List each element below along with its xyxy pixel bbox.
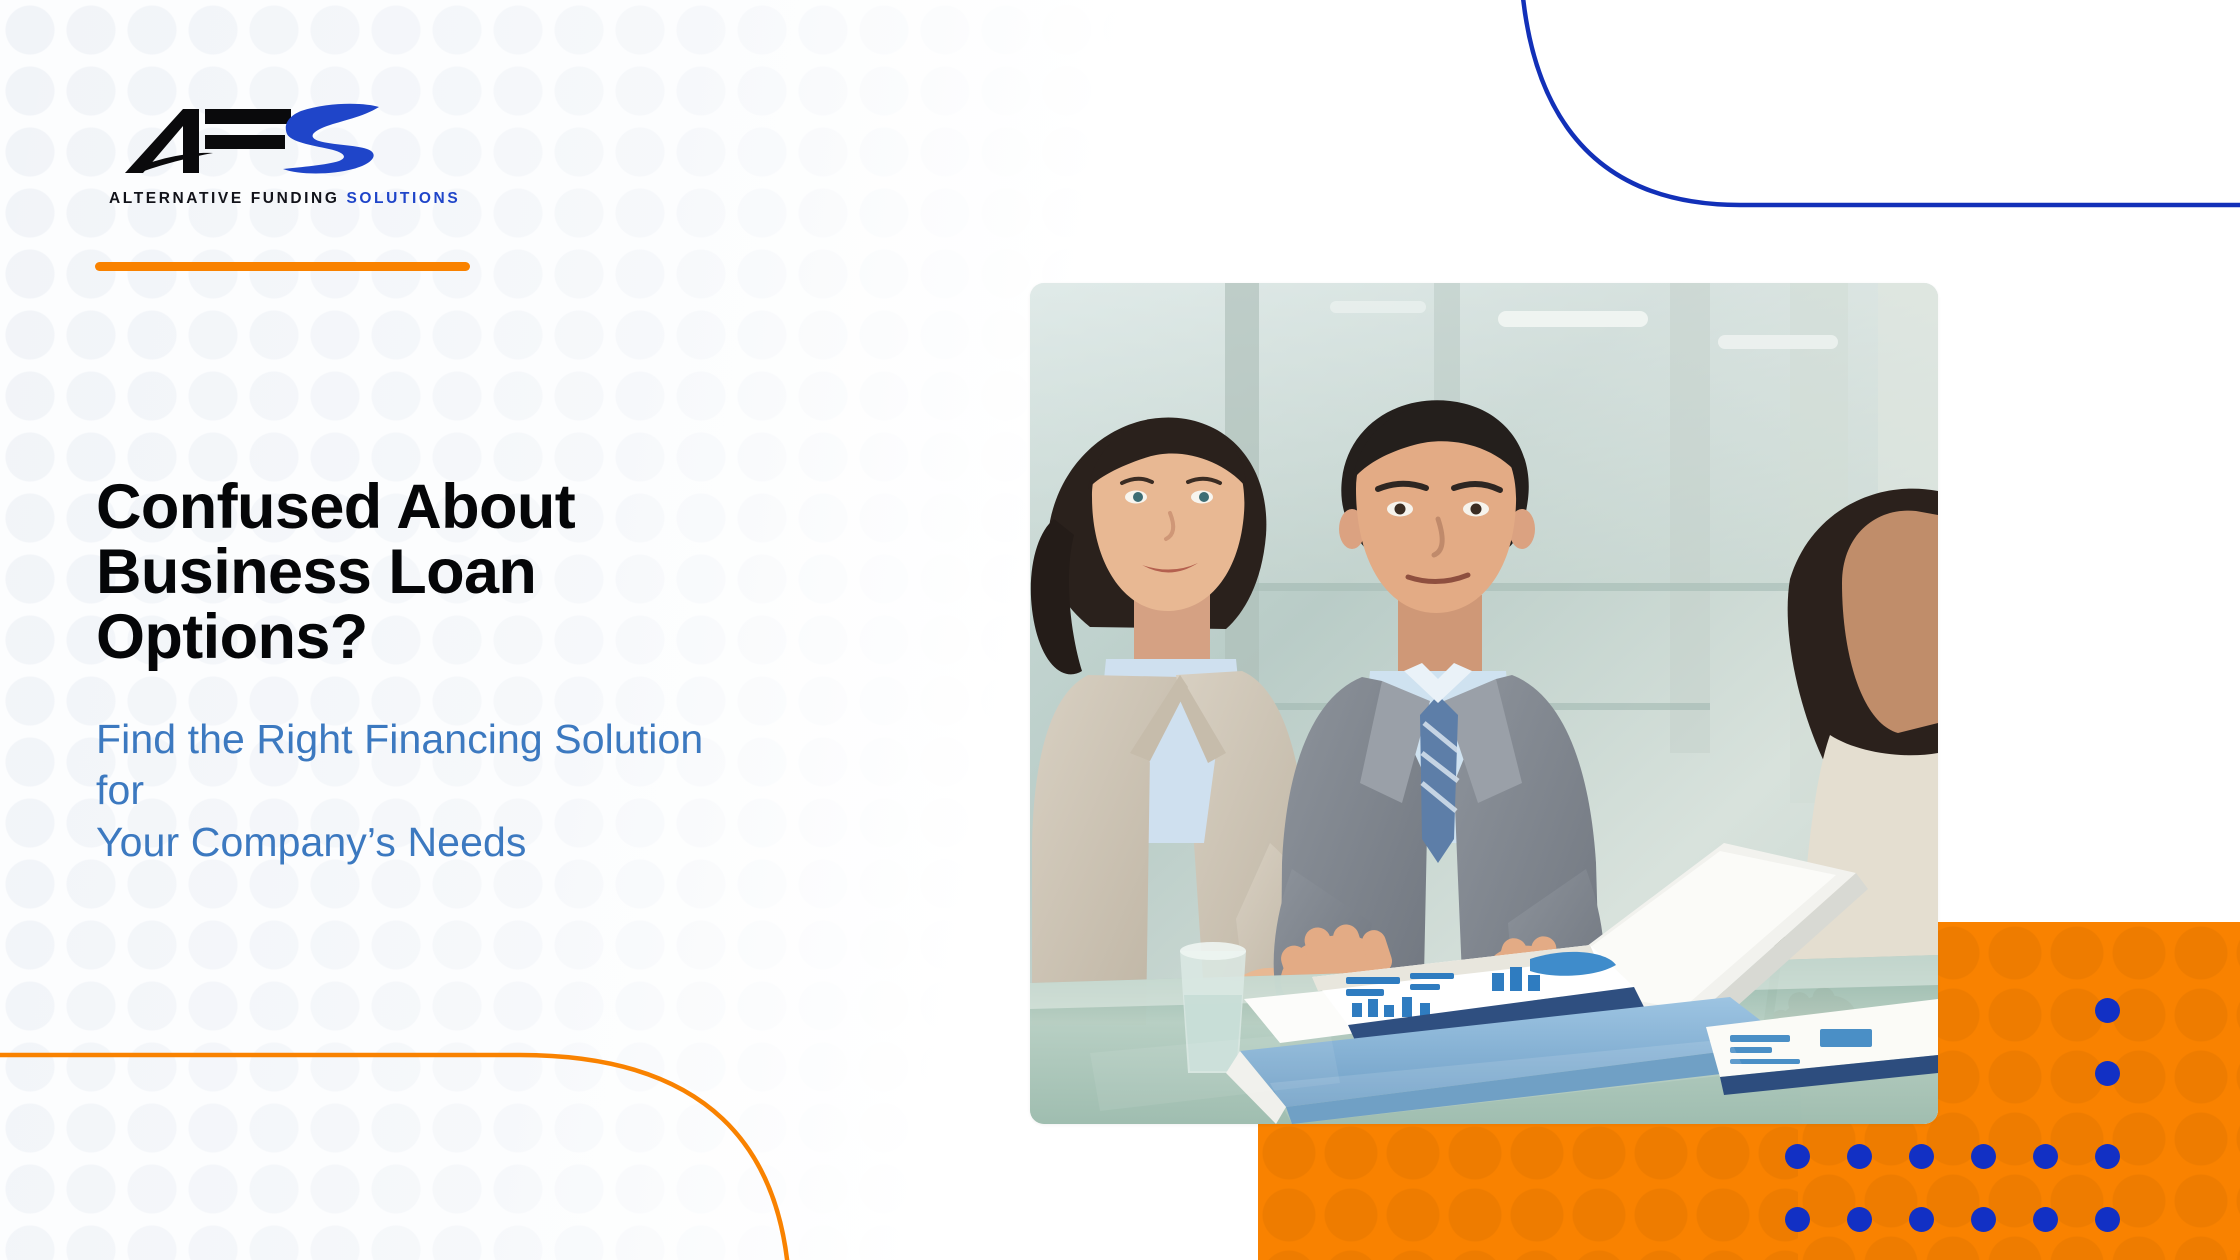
brand-logo[interactable]: ALTERNATIVE FUNDING SOLUTIONS	[95, 95, 460, 207]
headline-line-2: Business Loan	[96, 537, 536, 607]
orange-accent-bar	[95, 262, 470, 271]
business-meeting-illustration	[1030, 283, 1938, 1124]
tagline-primary: ALTERNATIVE FUNDING	[109, 190, 340, 207]
orange-corner-arc	[0, 1000, 860, 1260]
brand-tagline: ALTERNATIVE FUNDING SOLUTIONS	[109, 191, 460, 207]
subheadline-line-2: Your Company’s Needs	[96, 819, 526, 865]
hero-copy: Confused AboutBusiness LoanOptions? Find…	[96, 475, 996, 869]
subheadline-line-1: Find the Right Financing Solution for	[96, 716, 703, 814]
blue-corner-arc	[1480, 0, 2240, 240]
page-title: Confused AboutBusiness LoanOptions?	[96, 475, 736, 670]
headline-line-3: Options?	[96, 602, 368, 672]
page-subtitle: Find the Right Financing Solution forYou…	[96, 714, 756, 869]
tagline-secondary: SOLUTIONS	[346, 190, 460, 207]
business-meeting-photo	[1030, 283, 1938, 1124]
headline-line-1: Confused About	[96, 472, 575, 542]
afs-monogram-icon	[95, 95, 395, 185]
